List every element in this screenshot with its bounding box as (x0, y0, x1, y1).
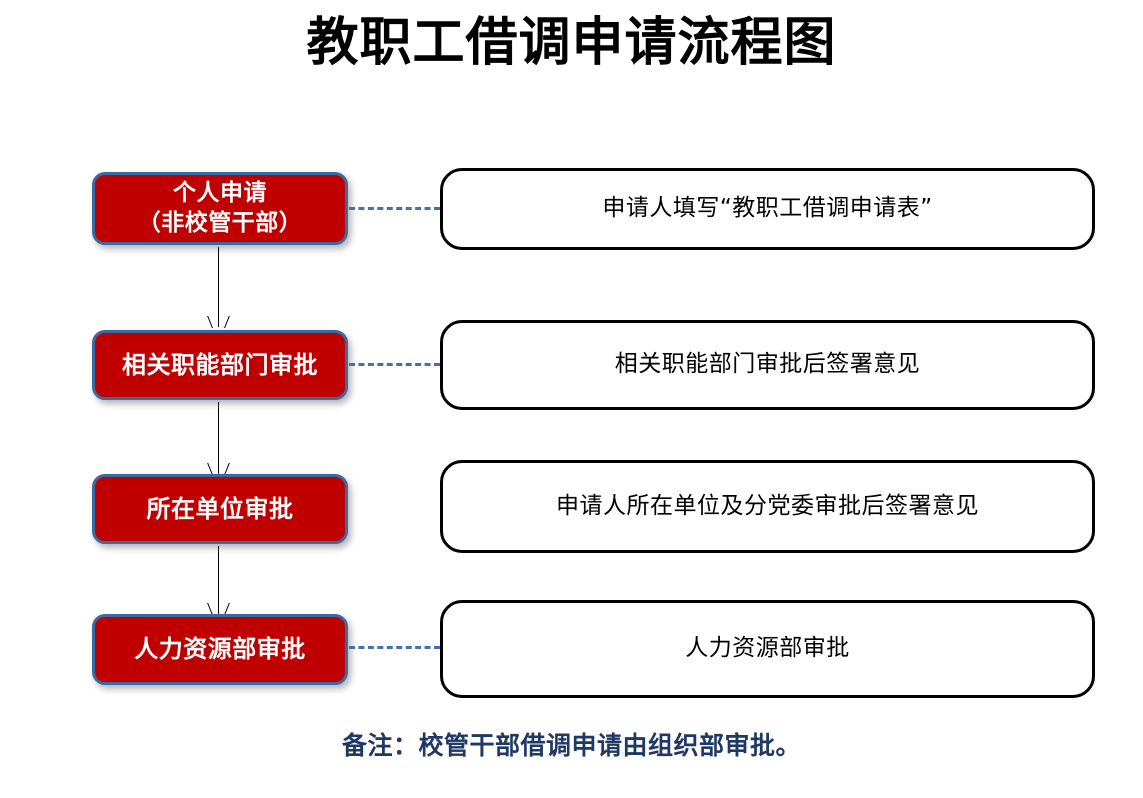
dash-connector (349, 363, 440, 366)
detail-box-personal-application[interactable]: 申请人填写“教职工借调申请表” (440, 168, 1095, 250)
arrow-down-icon (218, 247, 220, 327)
stage-label: 相关职能部门审批 (122, 350, 318, 381)
stage-label: 人力资源部审批 (134, 634, 306, 665)
detail-label: 人力资源部审批 (685, 634, 850, 664)
detail-label: 申请人所在单位及分党委审批后签署意见 (556, 492, 979, 522)
dash-connector (349, 646, 440, 649)
stage-box-unit-approval[interactable]: 所在单位审批 (92, 474, 348, 544)
footer-note: 备注：校管干部借调申请由组织部审批。 (0, 726, 1143, 762)
detail-label: 申请人填写“教职工借调申请表” (602, 194, 932, 224)
arrow-down-icon (218, 546, 220, 614)
stage-box-personal-application[interactable]: 个人申请 （非校管干部） (92, 172, 348, 245)
stage-label: 个人申请 （非校管干部） (138, 179, 303, 238)
detail-label: 相关职能部门审批后签署意见 (615, 350, 921, 380)
detail-box-hr-approval[interactable]: 人力资源部审批 (440, 600, 1095, 698)
arrow-head (212, 315, 225, 328)
stage-box-hr-approval[interactable]: 人力资源部审批 (92, 614, 348, 685)
detail-box-unit-approval[interactable]: 申请人所在单位及分党委审批后签署意见 (440, 460, 1095, 553)
dash-connector (349, 207, 440, 210)
arrow-down-icon (218, 402, 220, 474)
detail-box-functional-department-approval[interactable]: 相关职能部门审批后签署意见 (440, 320, 1095, 410)
stage-box-functional-department-approval[interactable]: 相关职能部门审批 (92, 330, 348, 400)
flowchart-canvas: 教职工借调申请流程图 个人申请 （非校管干部） 申请人填写“教职工借调申请表” … (0, 0, 1143, 798)
page-title: 教职工借调申请流程图 (0, 14, 1143, 74)
stage-label: 所在单位审批 (147, 494, 294, 525)
